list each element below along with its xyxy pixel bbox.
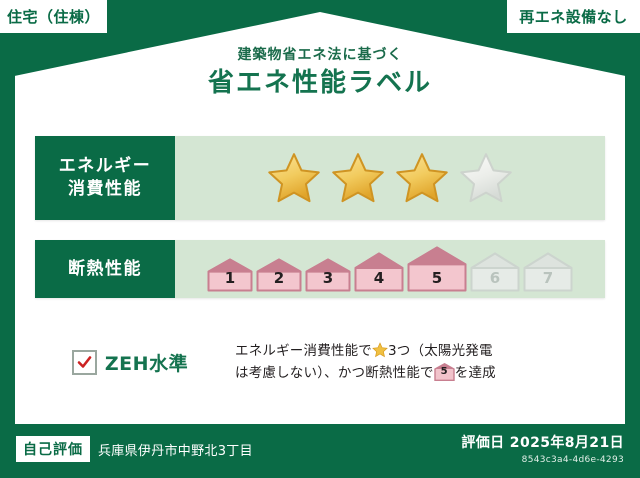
insulation-performance-label: 断熱性能 [35,240,175,298]
energy-performance-label: エネルギー 消費性能 [35,136,175,220]
star-icon-empty [459,151,513,205]
zeh-desc-part2: は考慮しない）、かつ断熱性能で [235,365,434,381]
insulation-level-4: 4 [354,252,404,292]
footer-right: 評価日 2025年8月21日 8543c3a4-4d6e-4293 [461,432,624,465]
tag-renewable-equipment: 再エネ設備なし [507,0,640,33]
insulation-level-badge-inline: 5 [434,363,455,381]
zeh-standard-label: ZEH水準 [105,349,188,376]
check-icon [77,355,92,370]
page-title: 省エネ性能ラベル [0,69,640,99]
energy-performance-row: エネルギー 消費性能 [35,136,605,220]
star-icon [372,342,388,358]
title-block: 建築物省エネ法に基づく 省エネ性能ラベル [0,48,640,99]
energy-label-line1: エネルギー [59,155,152,178]
zeh-checkbox[interactable] [72,350,97,375]
house-icon [305,258,351,292]
subtitle: 建築物省エネ法に基づく [0,48,640,63]
house-icon [523,252,573,292]
house-icon [256,258,302,292]
zeh-desc-part1: エネルギー消費性能で [235,343,372,359]
tag-renewable-label: 再エネ設備なし [519,6,628,27]
insulation-level-1: 1 [207,258,253,292]
house-icon [407,246,467,292]
footer-left: 自己評価 兵庫県伊丹市中野北3丁目 [16,436,253,462]
document-id: 8543c3a4-4d6e-4293 [461,455,624,465]
footer: 自己評価 兵庫県伊丹市中野北3丁目 評価日 2025年8月21日 8543c3a… [0,424,640,478]
insulation-level-7: 7 [523,252,573,292]
zeh-description: エネルギー消費性能で3つ（太陽光発電 は考慮しない）、かつ断熱性能で 5 を達成 [235,340,496,385]
zeh-desc-stars: 3つ（太陽光発電 [388,343,493,359]
self-evaluation-badge: 自己評価 [16,436,90,462]
insulation-scale-body: 1234567 [175,240,605,298]
insulation-level-6: 6 [470,252,520,292]
star-icon-filled [267,151,321,205]
zeh-desc-part3: を達成 [455,365,496,381]
star-icon-filled [395,151,449,205]
star-icon-filled [331,151,385,205]
zeh-standard-row: ZEH水準 エネルギー消費性能で3つ（太陽光発電 は考慮しない）、かつ断熱性能で… [35,340,610,385]
insulation-label-line1: 断熱性能 [68,258,142,281]
address-text: 兵庫県伊丹市中野北3丁目 [98,440,253,459]
insulation-level-scale: 1234567 [207,246,573,292]
evaluation-date: 評価日 2025年8月21日 [461,432,624,452]
insulation-performance-row: 断熱性能 1234567 [35,240,605,298]
house-icon [354,252,404,292]
energy-label-line2: 消費性能 [68,178,142,201]
energy-performance-label: 住宅（住棟） 再エネ設備なし 建築物省エネ法に基づく 省エネ性能ラベル エネルギ… [0,0,640,478]
zeh-standard-group: ZEH水準 [35,349,225,376]
insulation-level-5: 5 [407,246,467,292]
insulation-level-badge-inline-value: 5 [434,364,455,381]
house-icon [470,252,520,292]
house-icon [207,258,253,292]
tag-dwelling-type: 住宅（住棟） [0,0,107,33]
insulation-level-2: 2 [256,258,302,292]
tag-dwelling-label: 住宅（住棟） [7,6,100,27]
energy-star-rating [175,136,605,220]
insulation-level-3: 3 [305,258,351,292]
